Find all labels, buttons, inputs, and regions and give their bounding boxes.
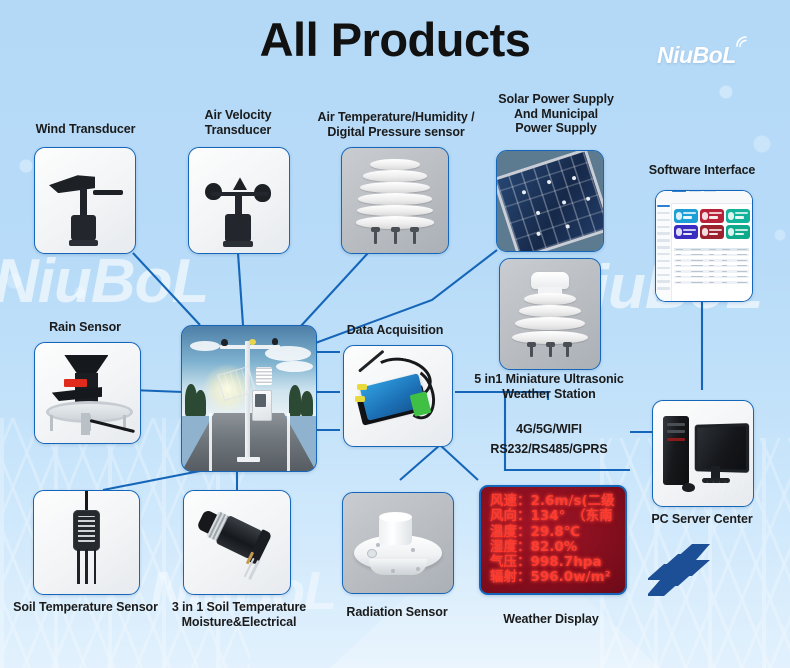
soil-3in1-probe-icon — [184, 491, 290, 594]
caption-pc-server-center: PC Server Center — [642, 512, 762, 527]
label-wireless-connectivity: 4G/5G/WIFI — [484, 422, 614, 437]
soil-probe-icon — [34, 491, 139, 594]
wind-vane-icon — [35, 148, 135, 253]
card-air-velocity-transducer[interactable] — [188, 147, 290, 254]
readout-temperature: 温度：29.8℃ — [490, 525, 625, 540]
readout-humidity: 湿度：82.0% — [490, 540, 625, 555]
pyranometer-icon — [343, 493, 453, 593]
card-weather-display[interactable]: 风速：2.6m/s(二级 风向：134° （东南 温度：29.8℃ 湿度：82.… — [479, 485, 627, 595]
dashboard-table-row — [674, 254, 749, 256]
anemometer-icon — [189, 148, 289, 253]
card-radiation-sensor[interactable] — [342, 492, 454, 594]
card-solar-power-supply[interactable] — [496, 150, 604, 252]
card-weather-station-hub[interactable] — [181, 325, 317, 472]
readout-wind-direction: 风向：134° （东南 — [490, 509, 625, 524]
dashboard-tile-rainfall — [700, 209, 724, 223]
caption-soil-temperature-sensor: Soil Temperature Sensor — [8, 600, 163, 615]
readout-wind-speed: 风速：2.6m/s(二级 — [490, 494, 625, 509]
dashboard-tile-radiation — [700, 225, 724, 239]
caption-air-temp-humidity: Air Temperature/Humidity /Digital Pressu… — [306, 110, 486, 139]
dashboard-table-header — [674, 248, 749, 250]
dashboard-table-row — [674, 265, 749, 267]
dashboard-table-row — [674, 281, 749, 283]
caption-solar-power: Solar Power Supply And Municipal Power S… — [486, 92, 626, 136]
caption-rain-sensor: Rain Sensor — [20, 320, 150, 335]
card-soil-temperature-sensor[interactable] — [33, 490, 140, 595]
dashboard-table-row — [674, 270, 749, 272]
software-dashboard-screenshot — [656, 191, 752, 301]
card-software-interface[interactable] — [655, 190, 753, 302]
dashboard-tile-air-temperature — [674, 209, 698, 223]
caption-data-acquisition: Data Acquisition — [330, 323, 460, 338]
caption-software-interface: Software Interface — [637, 163, 767, 178]
weather-display-readout: 风速：2.6m/s(二级 风向：134° （东南 温度：29.8℃ 湿度：82.… — [490, 494, 625, 586]
dashboard-tile-pressure — [674, 225, 698, 239]
caption-weather-display: Weather Display — [491, 612, 611, 627]
readout-radiation: 辐射：596.0w/m² — [490, 570, 625, 585]
dashboard-sidebar — [656, 203, 672, 301]
pc-server-icon — [653, 401, 753, 506]
readout-pressure: 气压：998.7hpa — [490, 555, 625, 570]
card-rain-sensor[interactable] — [34, 342, 141, 444]
ultrasonic-station-icon — [500, 259, 600, 369]
caption-soil-3in1-sensor: 3 in 1 Soil TemperatureMoisture&Electric… — [164, 600, 314, 629]
dashboard-table-row — [674, 276, 749, 278]
card-pc-server-center[interactable] — [652, 400, 754, 507]
caption-wind-transducer: Wind Transducer — [18, 122, 153, 137]
card-soil-3in1-sensor[interactable] — [183, 490, 291, 595]
caption-radiation-sensor: Radiation Sensor — [337, 605, 457, 620]
label-wired-connectivity: RS232/RS485/GPRS — [474, 442, 624, 457]
caption-ultrasonic-station: 5 in1 Miniature UltrasonicWeather Statio… — [468, 372, 630, 401]
caption-air-velocity: Air VelocityTransducer — [178, 108, 298, 137]
chevron-arrows-icon — [648, 540, 738, 612]
product-overview-poster: NiuBoL NiuBoL NiuBoL NiuBoL All Products — [0, 0, 790, 668]
card-wind-transducer[interactable] — [34, 147, 136, 254]
dashboard-table-row — [674, 259, 749, 261]
dashboard-tile-wind — [726, 225, 750, 239]
card-ultrasonic-weather-station[interactable] — [499, 258, 601, 370]
solar-panel-icon — [497, 151, 603, 251]
rain-gauge-icon — [35, 343, 140, 443]
card-air-temp-humidity-sensor[interactable] — [341, 147, 449, 254]
card-data-acquisition[interactable] — [343, 345, 453, 447]
weather-station-photo — [182, 326, 316, 471]
radiation-shield-icon — [342, 148, 448, 253]
dashboard-tile-humidity — [726, 209, 750, 223]
data-logger-icon — [344, 346, 452, 446]
